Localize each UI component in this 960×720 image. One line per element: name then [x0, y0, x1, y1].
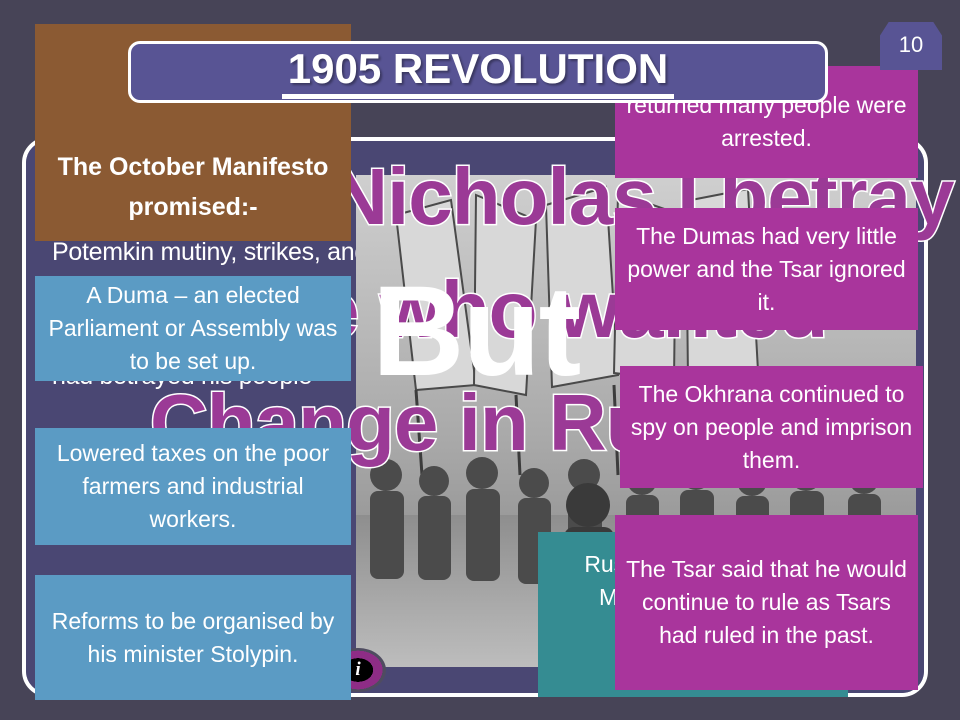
callout-okhrana-text: The Okhrana continued to spy on people a…	[628, 378, 915, 477]
slide-title-banner: 1905 REVOLUTION	[128, 41, 828, 103]
slide-number-badge: 10	[880, 22, 942, 70]
callout-reforms-stolypin-text: Reforms to be organised by his minister …	[43, 605, 343, 671]
callout-duma[interactable]: A Duma – an elected Parliament or Assemb…	[35, 276, 351, 381]
callout-lowered-taxes-text: Lowered taxes on the poor farmers and in…	[43, 437, 343, 536]
page-title: 1905 REVOLUTION	[282, 46, 674, 99]
callout-tsar-continue-rule[interactable]: The Tsar said that he would continue to …	[615, 515, 918, 690]
callout-okhrana[interactable]: The Okhrana continued to spy on people a…	[620, 366, 923, 488]
callout-dumas-little-power[interactable]: The Dumas had very little power and the …	[615, 208, 918, 330]
callout-tsar-continue-rule-text: The Tsar said that he would continue to …	[623, 553, 910, 652]
slide-number-text: 10	[899, 34, 923, 58]
callout-dumas-little-power-text: The Dumas had very little power and the …	[623, 220, 910, 319]
callout-reforms-stolypin[interactable]: Reforms to be organised by his minister …	[35, 575, 351, 700]
slide-canvas: A year of unrest and revolt Potemkin mut…	[0, 0, 960, 720]
callout-lowered-taxes[interactable]: Lowered taxes on the poor farmers and in…	[35, 428, 351, 545]
callout-october-manifesto-text: The October Manifesto promised:-	[43, 147, 343, 227]
overlay-word-but: But	[372, 268, 579, 396]
callout-duma-text: A Duma – an elected Parliament or Assemb…	[43, 279, 343, 378]
